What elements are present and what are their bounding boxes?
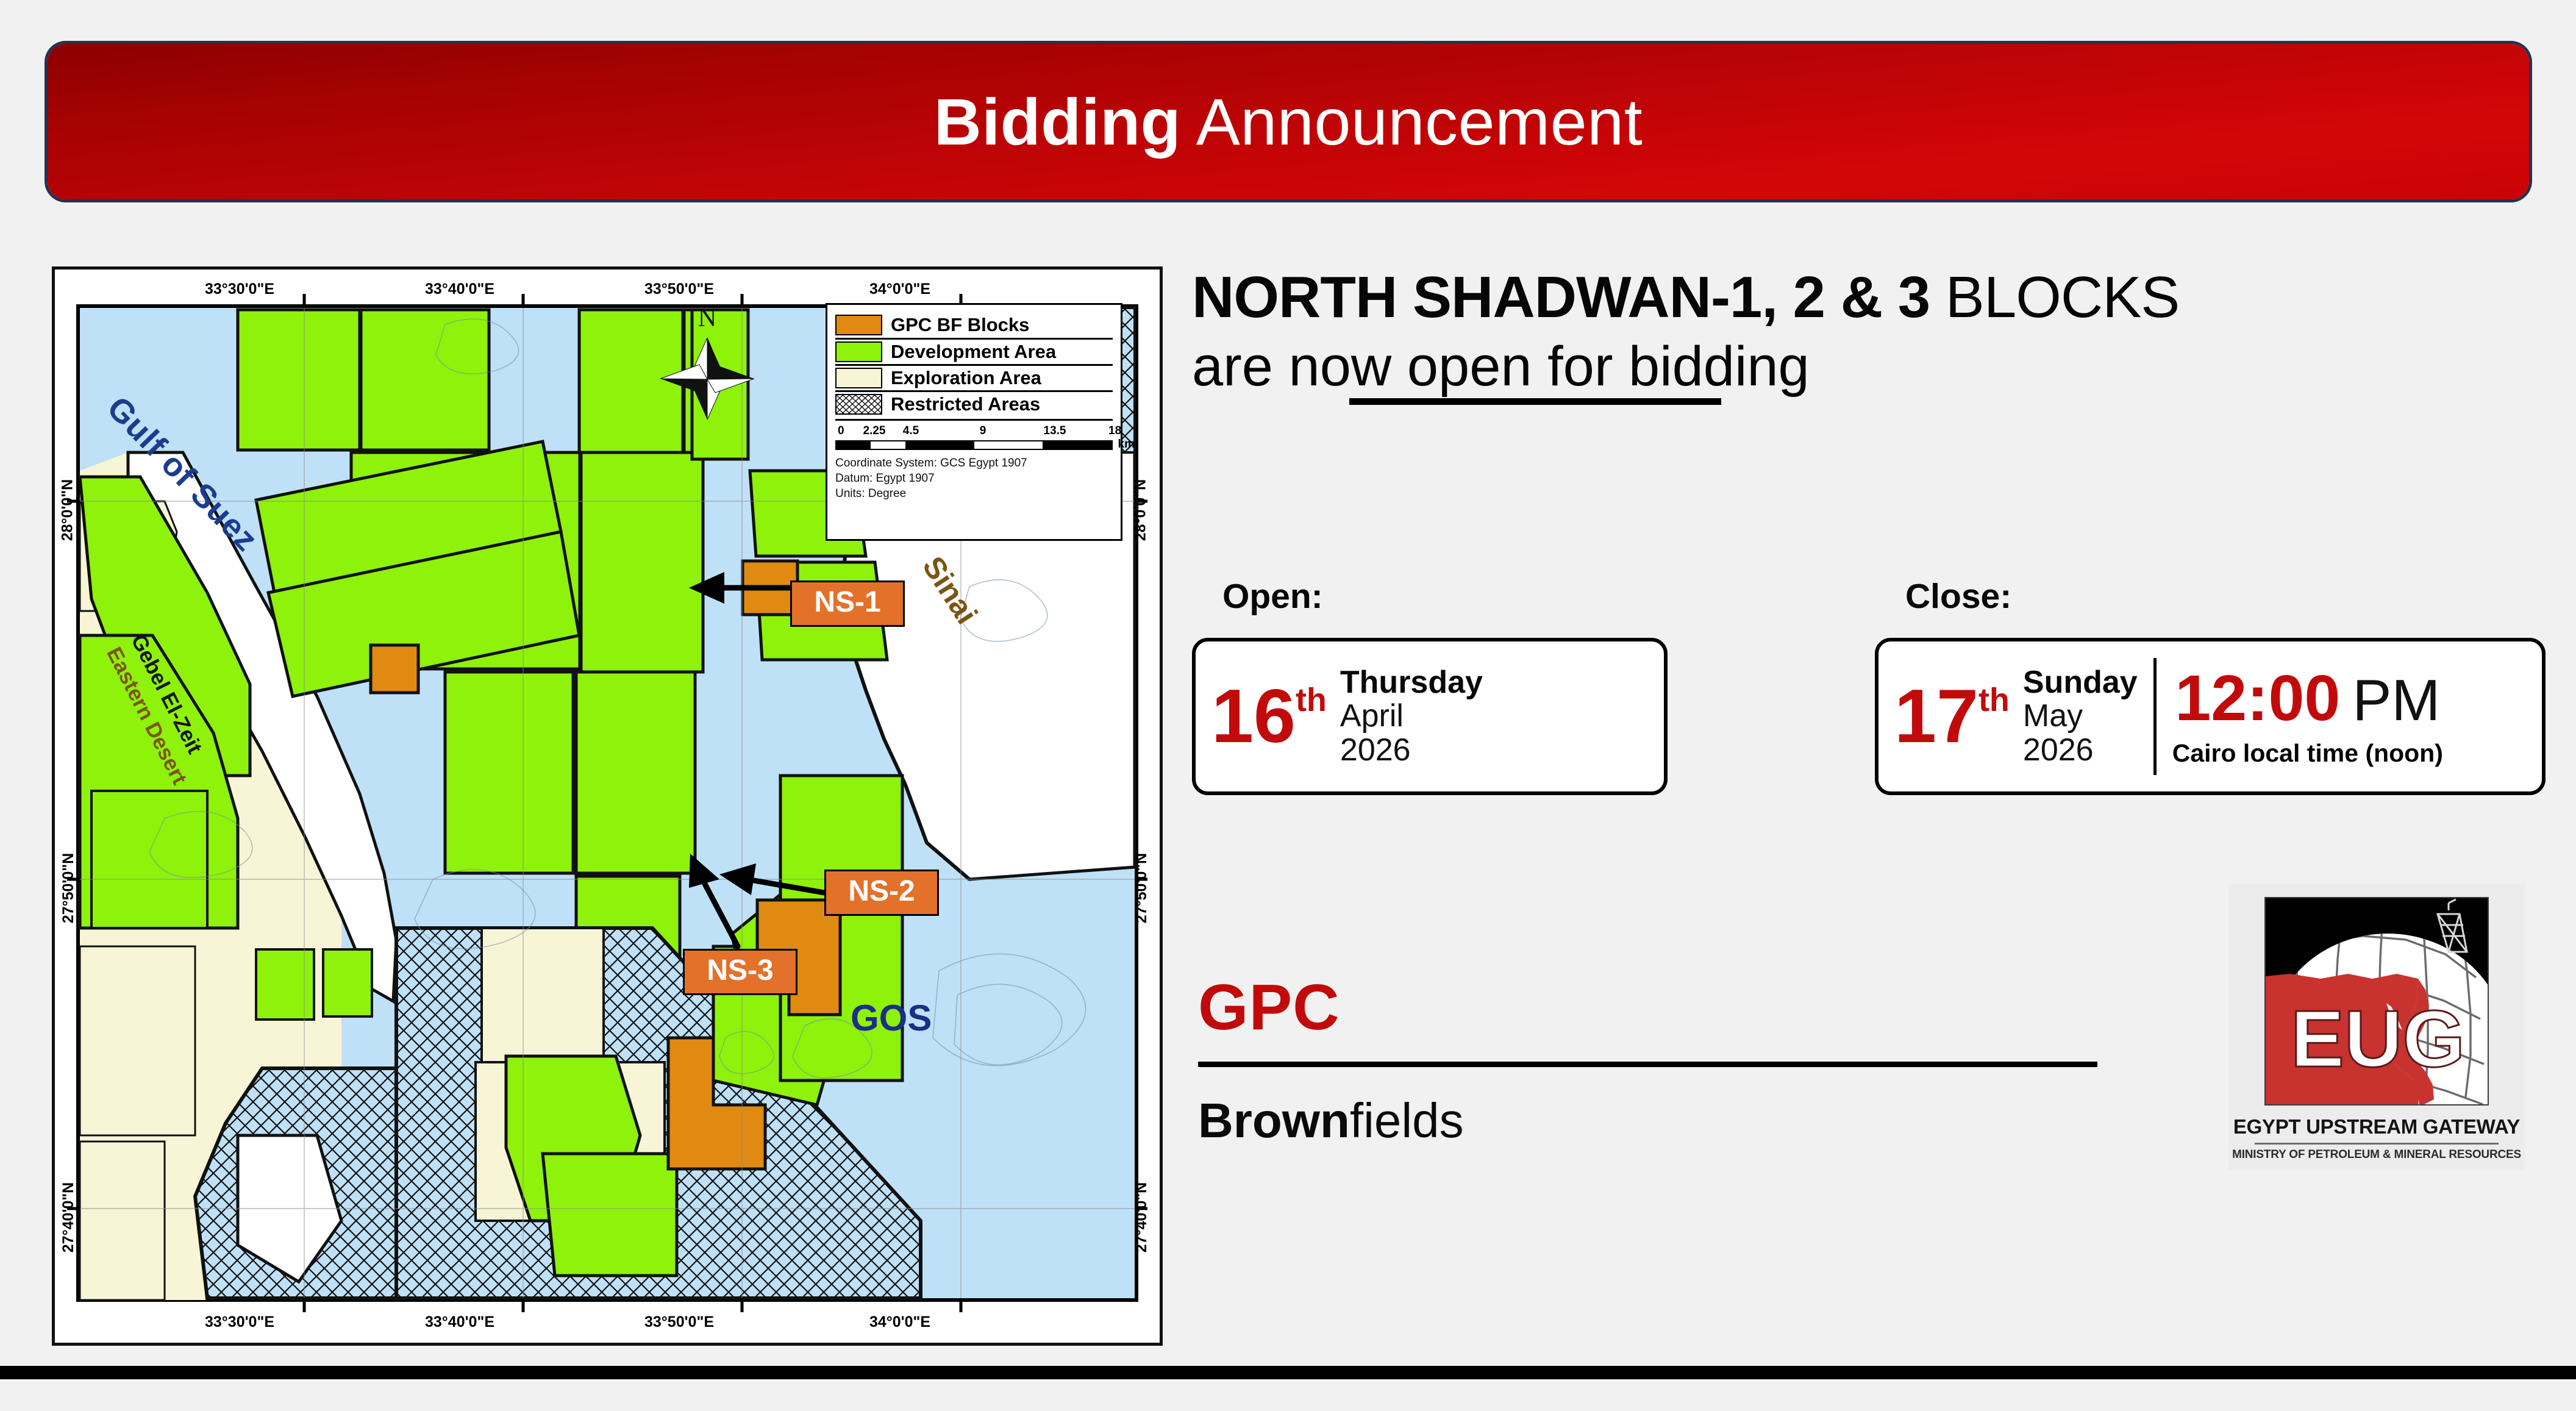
callout-ns-3[interactable]: NS-3: [683, 949, 797, 995]
eug-globe-egypt-icon: EUG: [2266, 898, 2489, 1106]
open-year: 2026: [1340, 734, 1483, 768]
map-canvas: N 33°30: [55, 270, 1160, 1343]
brand-brown: Brown: [1198, 1093, 1350, 1148]
legend-label-restricted-areas: Restricted Areas: [891, 393, 1040, 415]
banner-title-regular: Announcement: [1181, 85, 1643, 159]
page-title-suffix: BLOCKS: [1930, 265, 2179, 330]
poster-root: Bidding Announcement: [0, 0, 2576, 1411]
page-subtitle: are now open for bidding: [1192, 335, 1810, 399]
scale-tick-4: 13.5: [1044, 424, 1066, 438]
open-date-stack: Thursday April 2026: [1340, 666, 1483, 768]
map-scale-bar: 0 2.25 4.5 9 13.5 18 km: [835, 424, 1113, 450]
eug-logo: EUG EGYPT UPSTREAM GATEWAY MINISTRY OF P…: [2228, 884, 2525, 1170]
brand-brownfields: Brownfields: [1198, 1093, 2113, 1149]
banner-title-bold: Bidding: [934, 85, 1181, 159]
compass-north-label: N: [655, 304, 759, 333]
scale-tick-labels: 0 2.25 4.5 9 13.5 18: [835, 424, 1113, 440]
legend-swatch-gpc-bf-blocks: [835, 315, 882, 335]
subtitle-underline: [1349, 398, 1721, 405]
legend-row-gpc-bf-blocks: GPC BF Blocks: [835, 312, 1113, 338]
open-day-value: 16: [1211, 679, 1296, 754]
legend-row-development-area: Development Area: [835, 338, 1113, 364]
compass-rose: N: [655, 306, 759, 428]
close-day-value: 17: [1894, 679, 1978, 754]
open-column: Open: 16th Thursday April 2026: [1192, 576, 1668, 795]
legend-row-exploration-area: Exploration Area: [835, 364, 1113, 390]
brand-block: GPC Brownfields: [1198, 971, 2113, 1149]
scale-tick-3: 9: [980, 424, 987, 438]
close-day-ordinal: th: [1978, 684, 2010, 716]
eug-logo-mark: EUG: [2264, 897, 2489, 1106]
map-panel[interactable]: N 33°30: [52, 266, 1163, 1346]
eug-name: EGYPT UPSTREAM GATEWAY: [2233, 1115, 2520, 1138]
brand-fields: fields: [1350, 1093, 1464, 1148]
legend-swatch-restricted-areas: [835, 394, 882, 415]
legend-swatch-exploration-area: [835, 368, 882, 388]
open-day-ordinal: th: [1296, 684, 1327, 716]
banner-title: Bidding Announcement: [934, 84, 1643, 160]
brand-gpc: GPC: [1198, 971, 2113, 1045]
datum-line: Datum: Egypt 1907: [835, 471, 1113, 486]
legend-divider: [835, 419, 1113, 421]
legend-row-restricted-areas: Restricted Areas: [835, 390, 1113, 416]
scale-unit-label: km: [1118, 438, 1135, 451]
open-weekday: Thursday: [1340, 666, 1483, 700]
svg-text:EUG: EUG: [2291, 994, 2465, 1084]
legend-swatch-development-area: [835, 341, 882, 362]
callout-ns-2[interactable]: NS-2: [824, 870, 939, 916]
open-heading: Open:: [1222, 576, 1668, 616]
header-banner: Bidding Announcement: [48, 44, 2529, 199]
scale-tick-2: 4.5: [903, 424, 919, 438]
close-time-note: Cairo local time (noon): [2172, 739, 2443, 768]
units-line: Units: Degree: [835, 486, 1113, 501]
crs-line: Coordinate System: GCS Egypt 1907: [835, 455, 1113, 471]
page-title: NORTH SHADWAN-1, 2 & 3 BLOCKS: [1192, 266, 2546, 329]
map-legend: GPC BF Blocks Development Area Explorati…: [826, 303, 1122, 541]
close-heading: Close:: [1905, 576, 2546, 616]
close-time-value: 12:00: [2175, 666, 2340, 731]
scale-tick-5: 18: [1108, 424, 1121, 438]
scale-tick-1: 2.25: [863, 424, 886, 438]
close-date-card[interactable]: 17th Sunday May 2026 12:00 PM Cairo loca…: [1875, 638, 2546, 795]
close-card-divider: [2153, 658, 2157, 775]
eug-divider: [2255, 1143, 2499, 1145]
open-date-card[interactable]: 16th Thursday April 2026: [1192, 638, 1668, 795]
close-time-line: 12:00 PM: [2172, 666, 2443, 731]
page-title-blocks: NORTH SHADWAN-1, 2 & 3: [1192, 265, 1930, 330]
close-time-meridiem: PM: [2352, 671, 2440, 730]
page-subtitle-text: are now open for bidding: [1192, 335, 1810, 398]
hatch-pattern-icon: [837, 395, 881, 413]
eug-ministry: MINISTRY OF PETROLEUM & MINERAL RESOURCE…: [2232, 1148, 2521, 1162]
bottom-rule: [0, 1366, 2576, 1379]
legend-label-gpc-bf-blocks: GPC BF Blocks: [891, 314, 1029, 336]
close-weekday: Sunday: [2023, 666, 2138, 700]
open-month: April: [1340, 699, 1483, 734]
close-day-number: 17th: [1894, 679, 2010, 754]
callout-ns-1[interactable]: NS-1: [790, 580, 905, 627]
brand-divider: [1198, 1062, 2097, 1067]
scale-track: km: [835, 440, 1113, 450]
legend-label-development-area: Development Area: [891, 341, 1056, 363]
close-month: May: [2023, 699, 2138, 734]
close-column: Close: 17th Sunday May 2026 12:00 PM: [1875, 576, 2546, 795]
close-year: 2026: [2023, 734, 2138, 768]
scale-tick-0: 0: [838, 424, 844, 438]
content-column: NORTH SHADWAN-1, 2 & 3 BLOCKS are now op…: [1192, 266, 2546, 399]
legend-label-exploration-area: Exploration Area: [891, 367, 1041, 389]
open-day-number: 16th: [1211, 679, 1327, 754]
close-time-block: 12:00 PM Cairo local time (noon): [2172, 666, 2443, 768]
map-crs-note: Coordinate System: GCS Egypt 1907 Datum:…: [835, 455, 1113, 501]
close-date-stack: Sunday May 2026: [2023, 666, 2138, 768]
